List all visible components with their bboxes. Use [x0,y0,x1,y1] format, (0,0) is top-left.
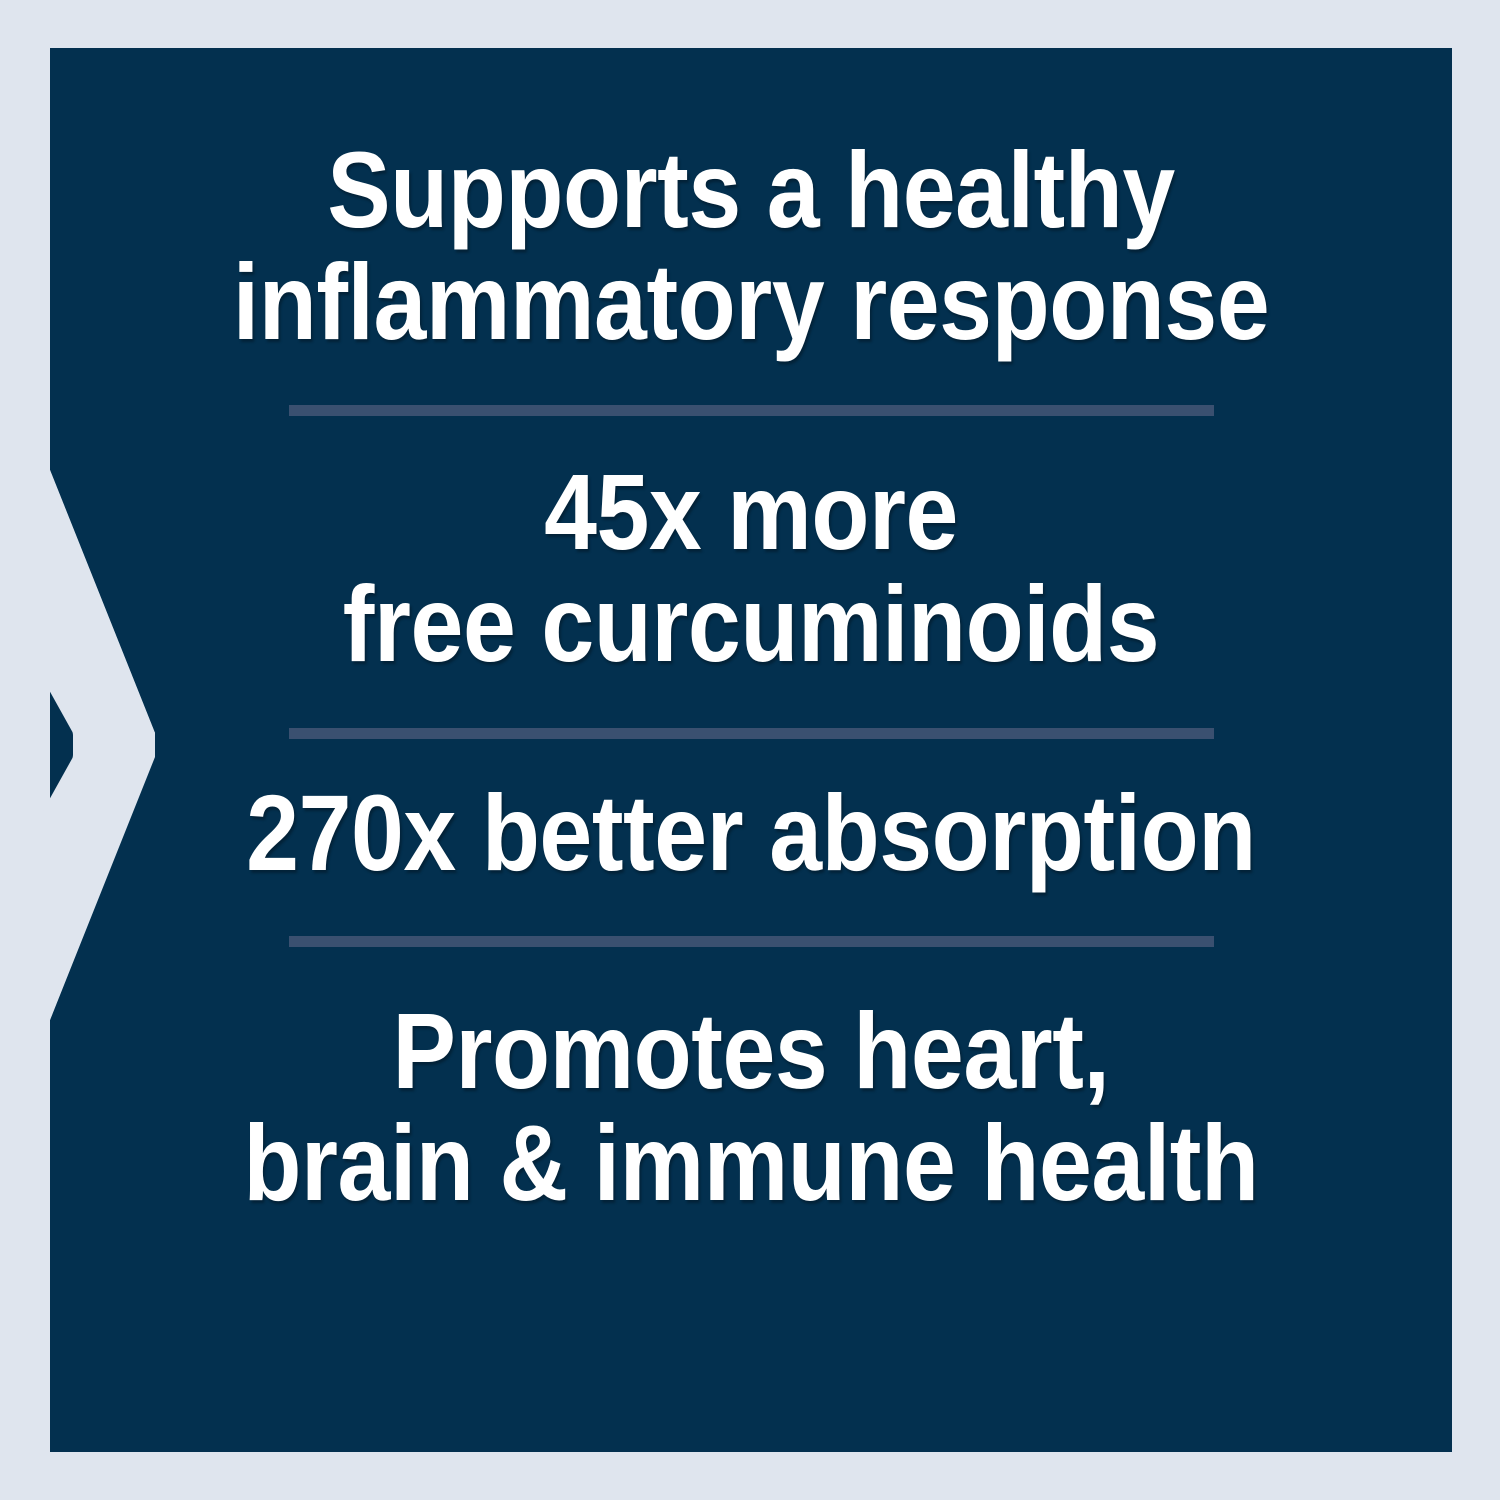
claim-1-line-1: Supports a healthy [134,134,1368,246]
product-benefit-graphic: Supports a healthy inflammatory response… [0,0,1500,1500]
divider-2 [289,728,1214,739]
claim-2-line-1: 45x more [134,456,1368,568]
claim-1-line-2: inflammatory response [134,246,1368,358]
divider-3 [289,936,1214,947]
heart-brain-immune-claim: Promotes heart, brain & immune health [134,995,1368,1220]
free-curcuminoids-claim: 45x more free curcuminoids [134,456,1368,681]
claims-stack: Supports a healthy inflammatory response… [50,48,1452,1452]
claim-4-line-1: Promotes heart, [134,995,1368,1107]
absorption-claim: 270x better absorption [134,777,1368,889]
inflammatory-response-claim: Supports a healthy inflammatory response [134,134,1368,359]
claim-2-line-2: free curcuminoids [134,568,1368,680]
divider-1 [289,405,1214,416]
claim-4-line-2: brain & immune health [134,1107,1368,1219]
claim-3-line-1: 270x better absorption [134,777,1368,889]
